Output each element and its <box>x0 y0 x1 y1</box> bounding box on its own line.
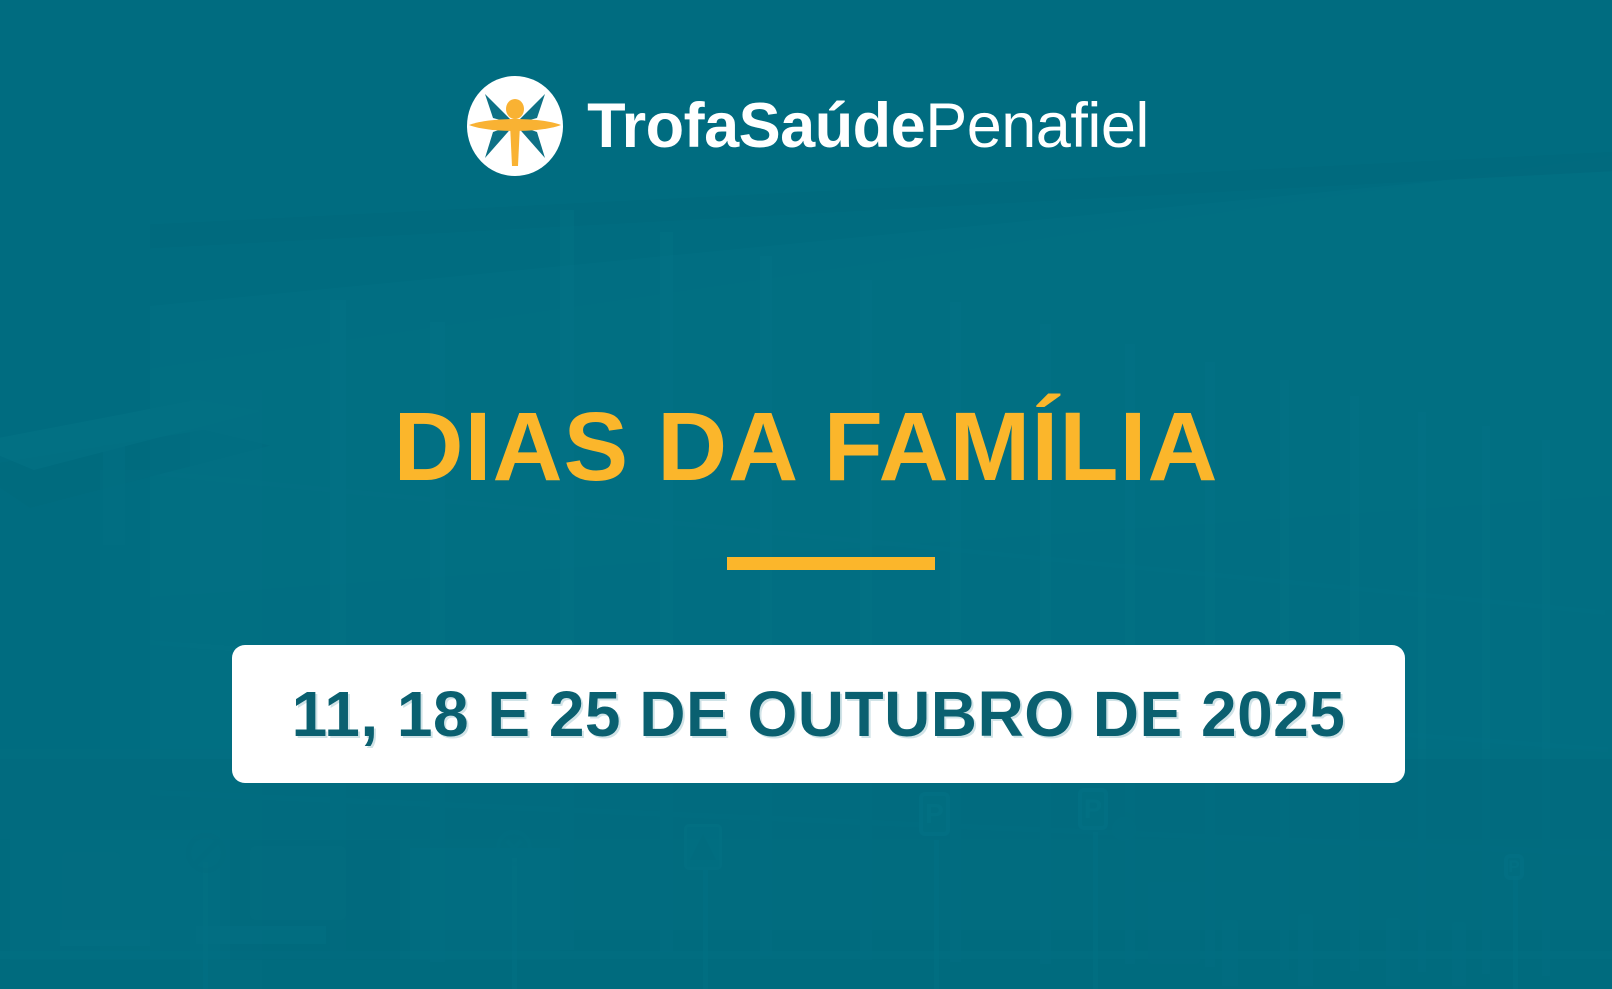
amber-divider <box>727 557 935 570</box>
brand-wordmark-bold: TrofaSaúde <box>587 95 925 158</box>
promotional-banner: P P P <box>0 0 1612 989</box>
date-plate: 11, 18 E 25 DE OUTUBRO DE 2025 <box>232 645 1405 783</box>
trofasaude-star-figure-logo <box>463 74 567 178</box>
brand-wordmark-light: Penafiel <box>925 95 1149 158</box>
event-dates: 11, 18 E 25 DE OUTUBRO DE 2025 <box>292 677 1346 751</box>
brand-wordmark: TrofaSaúde Penafiel <box>587 95 1149 158</box>
page-title: DIAS DA FAMÍLIA <box>0 398 1612 495</box>
banner-content: TrofaSaúde Penafiel DIAS DA FAMÍLIA 11, … <box>0 0 1612 989</box>
brand-lockup: TrofaSaúde Penafiel <box>0 74 1612 178</box>
